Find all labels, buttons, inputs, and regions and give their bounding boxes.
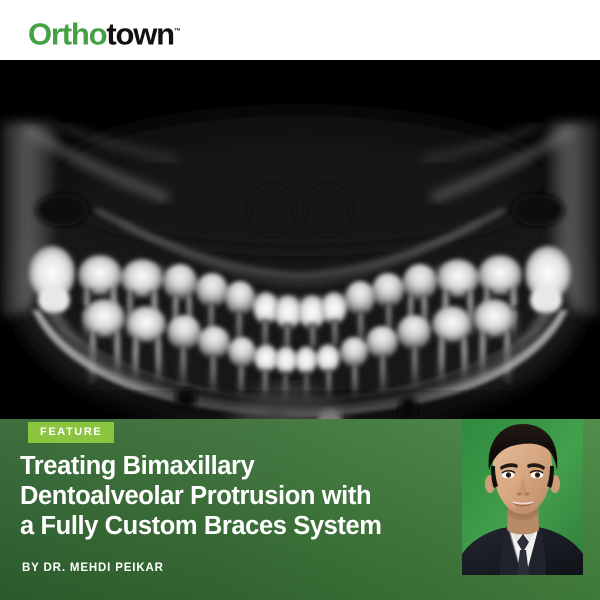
orthotown-logo[interactable]: Orthotown™ xyxy=(28,17,181,49)
article-title-line-1: Treating Bimaxillary xyxy=(20,451,460,481)
article-title: Treating Bimaxillary Dentoalveolar Protr… xyxy=(20,451,460,541)
feature-banner: FEATURE Treating Bimaxillary Dentoalveol… xyxy=(0,419,600,600)
feature-badge: FEATURE xyxy=(28,422,114,443)
trademark-symbol: ™ xyxy=(174,28,181,35)
article-title-line-3: a Fully Custom Braces System xyxy=(20,511,460,541)
article-byline: BY DR. MEHDI PEIKAR xyxy=(22,562,164,574)
site-header: Orthotown™ xyxy=(0,0,600,60)
author-portrait xyxy=(462,419,583,575)
logo-text-ortho: Ortho xyxy=(28,16,106,51)
article-cover-page: Orthotown™ xyxy=(0,0,600,600)
article-title-line-2: Dentoalveolar Protrusion with xyxy=(20,481,460,511)
panoramic-xray-image xyxy=(0,60,600,419)
logo-text-town: town xyxy=(106,16,174,51)
